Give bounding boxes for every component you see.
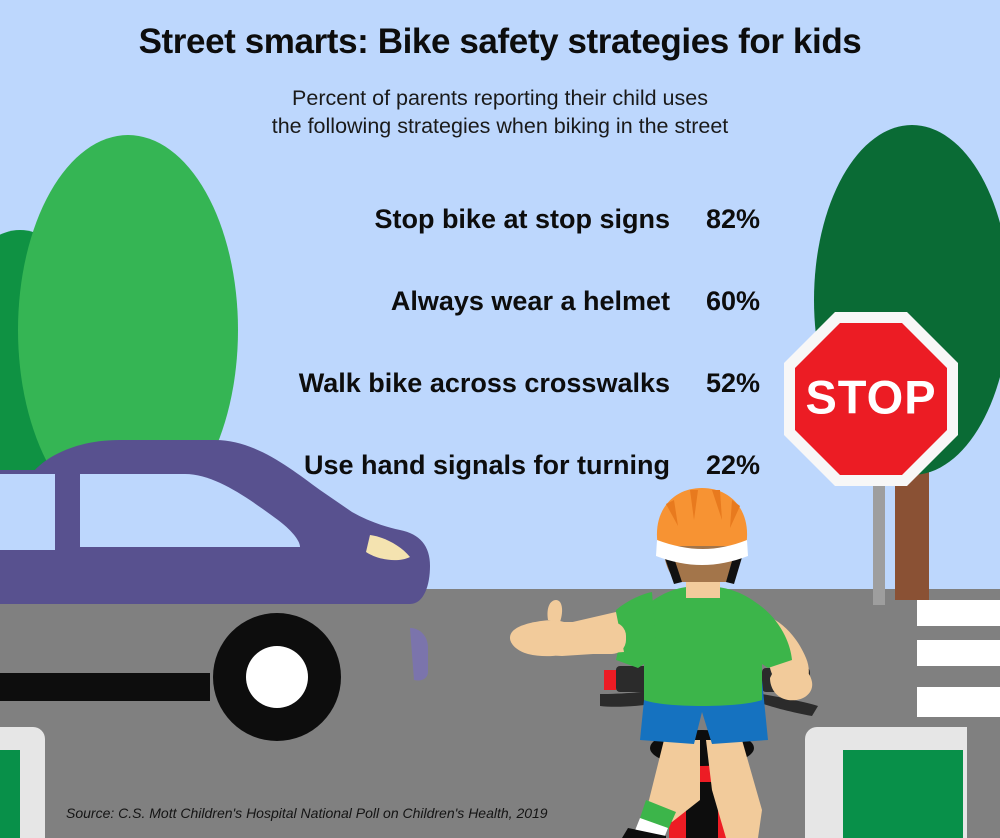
list-item: Stop bike at stop signs 82% [0, 178, 1000, 260]
text-layer: Street smarts: Bike safety strategies fo… [0, 0, 1000, 838]
stat-label: Always wear a helmet [240, 286, 670, 317]
infographic-canvas: STOP [0, 0, 1000, 838]
stat-value: 22% [670, 450, 760, 481]
stat-value: 60% [670, 286, 760, 317]
stat-label: Walk bike across crosswalks [240, 368, 670, 399]
list-item: Always wear a helmet 60% [0, 260, 1000, 342]
list-item: Use hand signals for turning 22% [0, 424, 1000, 506]
page-title: Street smarts: Bike safety strategies fo… [0, 22, 1000, 62]
stat-value: 82% [670, 204, 760, 235]
stat-label: Stop bike at stop signs [240, 204, 670, 235]
list-item: Walk bike across crosswalks 52% [0, 342, 1000, 424]
source-note: Source: C.S. Mott Children's Hospital Na… [66, 805, 548, 821]
page-subtitle: Percent of parents reporting their child… [0, 84, 1000, 141]
subtitle-line-2: the following strategies when biking in … [0, 112, 1000, 140]
stat-value: 52% [670, 368, 760, 399]
statistics-list: Stop bike at stop signs 82% Always wear … [0, 178, 1000, 506]
subtitle-line-1: Percent of parents reporting their child… [0, 84, 1000, 112]
stat-label: Use hand signals for turning [240, 450, 670, 481]
